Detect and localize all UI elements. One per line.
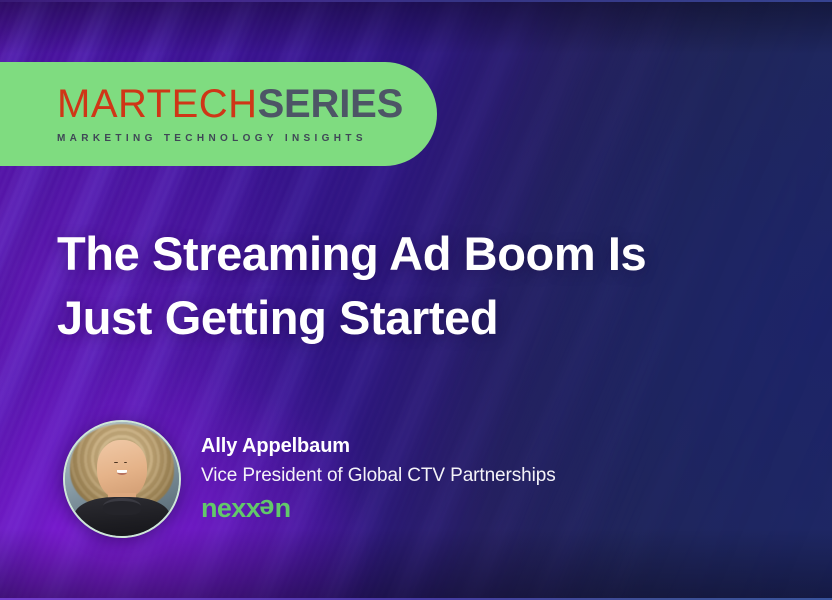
logo-wordmark: MARTECH SERIES: [57, 84, 437, 124]
speaker-role: Vice President of Global CTV Partnership…: [201, 463, 556, 489]
avatar-face: [97, 440, 147, 499]
nexxen-logo-part-1: nexx: [201, 495, 260, 522]
martech-series-logo-banner: MARTECH SERIES MARKETING TECHNOLOGY INSI…: [0, 62, 437, 166]
logo-word-martech: MARTECH: [57, 84, 258, 124]
avatar-eye-right: [124, 462, 128, 464]
headline-line-2: Just Getting Started: [57, 286, 717, 350]
logo-word-series: SERIES: [258, 84, 404, 124]
logo-tagline: MARKETING TECHNOLOGY INSIGHTS: [57, 133, 437, 144]
nexxen-logo-flipped-e: e: [260, 495, 274, 522]
top-edge-line: [0, 0, 832, 2]
avatar-smile: [117, 470, 127, 475]
avatar-eye-left: [114, 462, 118, 464]
speaker-block: Ally Appelbaum Vice President of Global …: [63, 420, 556, 538]
headline-line-1: The Streaming Ad Boom Is: [57, 222, 717, 286]
speaker-name: Ally Appelbaum: [201, 434, 556, 459]
promo-card: MARTECH SERIES MARKETING TECHNOLOGY INSI…: [0, 0, 832, 600]
avatar-collar: [103, 498, 142, 515]
avatar: [63, 420, 181, 538]
headline-block: The Streaming Ad Boom Is Just Getting St…: [57, 222, 717, 350]
nexxen-logo-part-2: n: [275, 495, 291, 522]
nexxen-logo: nexx e n: [201, 495, 556, 522]
speaker-details: Ally Appelbaum Vice President of Global …: [201, 420, 556, 522]
